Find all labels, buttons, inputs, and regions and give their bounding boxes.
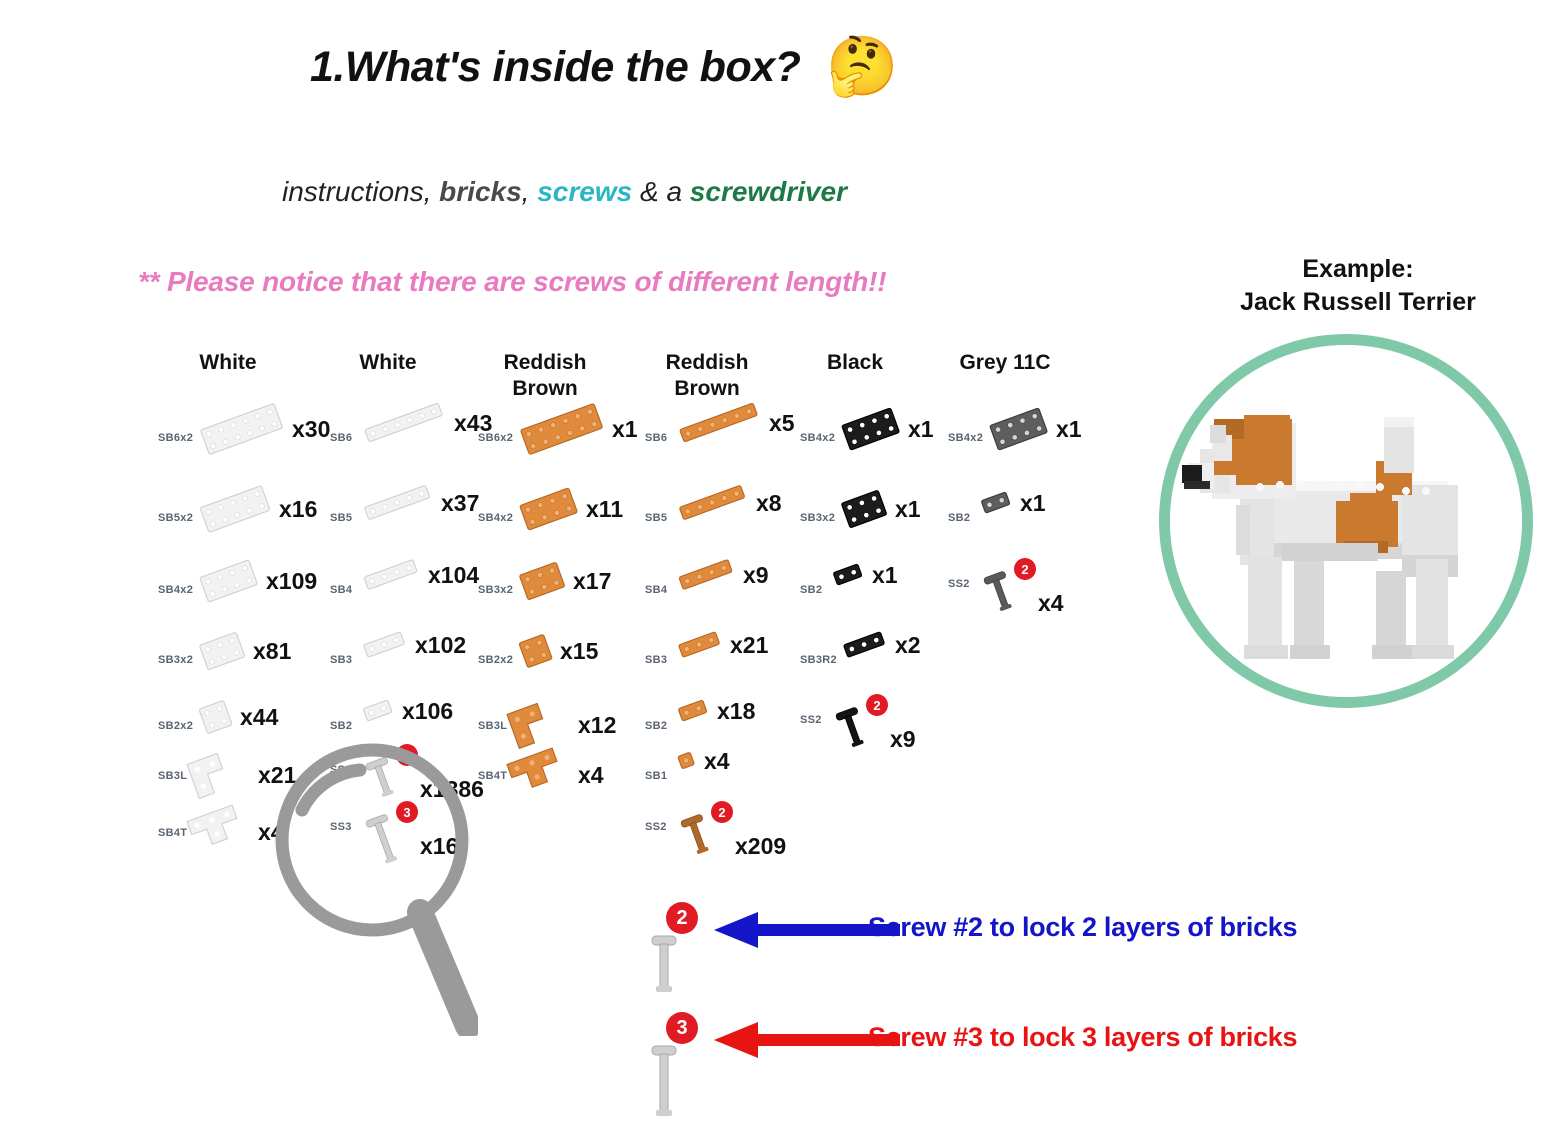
part-code: SB6 <box>645 432 667 444</box>
part-code: SS2 <box>645 821 667 833</box>
part-icon-plate-2x1 <box>832 562 876 598</box>
part-code: SB2x2 <box>478 654 513 666</box>
part-icon-plate-3x2 <box>200 632 257 681</box>
part-quantity: x16 <box>420 833 458 860</box>
part-code: SB3x2 <box>800 512 835 524</box>
part-icon-plate-4x2 <box>990 410 1060 459</box>
part-code: SB4x2 <box>800 432 835 444</box>
part-quantity: x11 <box>586 496 623 523</box>
part-quantity: x4 <box>1038 590 1064 617</box>
example-dog-circle <box>1159 334 1533 708</box>
part-quantity: x1 <box>872 562 898 589</box>
part-icon-plate-3x2 <box>842 490 899 539</box>
part-quantity: x4 <box>258 819 284 846</box>
column-header-4: Black <box>775 350 935 376</box>
part-icon-plate-5x1 <box>362 490 445 526</box>
part-code: SS2 <box>330 764 352 776</box>
part-code: SS3 <box>330 821 352 833</box>
legend-label-3: Screw #3 to lock 3 layers of bricks <box>868 1022 1297 1053</box>
part-code: SS2 <box>800 714 822 726</box>
part-code: SB4T <box>158 827 187 839</box>
part-quantity: x1 <box>908 416 934 443</box>
part-quantity: x1386 <box>420 776 484 803</box>
column-header-2: ReddishBrown <box>465 350 625 403</box>
part-quantity: x18 <box>717 698 755 725</box>
part-quantity: x37 <box>441 490 479 517</box>
part-quantity: x44 <box>240 704 278 731</box>
part-quantity: x4 <box>704 748 730 775</box>
part-icon-plate-6x1 <box>362 410 458 446</box>
part-code: SS2 <box>948 578 970 590</box>
part-code: SB4 <box>645 584 667 596</box>
part-icon-plate-3x1 <box>362 632 419 668</box>
part-code: SB5 <box>645 512 667 524</box>
part-quantity: x9 <box>890 726 916 753</box>
part-code: SB4 <box>330 584 352 596</box>
part-icon-plate-5x1 <box>677 490 760 526</box>
part-icon-plate-2x2 <box>520 632 564 681</box>
part-quantity: x9 <box>743 562 769 589</box>
example-breed: Jack Russell Terrier <box>1198 286 1518 319</box>
part-icon-plate-T <box>510 748 582 813</box>
part-code: SB4x2 <box>948 432 983 444</box>
screw-badge-3: 3 <box>396 801 418 823</box>
part-quantity: x209 <box>735 833 786 860</box>
part-code: SB2 <box>800 584 822 596</box>
part-icon-plate-3x1 <box>677 632 734 668</box>
part-quantity: x5 <box>769 410 795 437</box>
part-code: SB5 <box>330 512 352 524</box>
screw-legend: 2 Screw #2 to lock 2 layers of bricks 3 … <box>640 890 1440 1130</box>
part-quantity: x1 <box>1056 416 1082 443</box>
part-quantity: x17 <box>573 568 611 595</box>
parts-inventory: WhiteSB6x2x30SB5x2x16SB4x2x109SB3x2x81SB… <box>0 0 1110 900</box>
part-code: SB3 <box>645 654 667 666</box>
part-quantity: x2 <box>895 632 921 659</box>
part-icon-plate-4x1 <box>677 562 747 598</box>
part-code: SB2 <box>330 720 352 732</box>
part-code: SB2 <box>645 720 667 732</box>
part-code: SB4x2 <box>478 512 513 524</box>
example-caption: Example: Jack Russell Terrier <box>1198 253 1518 318</box>
part-icon-plate-3x1 <box>842 632 899 668</box>
legend-label-2: Screw #2 to lock 2 layers of bricks <box>868 912 1297 943</box>
part-icon-plate-2x2 <box>200 698 244 747</box>
part-icon-plate-4x2 <box>842 410 912 459</box>
part-code: SB3L <box>158 770 187 782</box>
part-icon-plate-6x2 <box>520 410 616 459</box>
screw-badge-2: 2 <box>1014 558 1036 580</box>
part-quantity: x30 <box>292 416 330 443</box>
screw-badge-3: 3 <box>666 1012 698 1044</box>
screw-badge-2: 2 <box>866 694 888 716</box>
part-quantity: x21 <box>730 632 768 659</box>
part-code: SB3R2 <box>800 654 837 666</box>
part-code: SB6x2 <box>478 432 513 444</box>
part-code: SB3x2 <box>478 584 513 596</box>
part-quantity: x8 <box>756 490 782 517</box>
part-quantity: x1 <box>612 416 638 443</box>
screw-badge-2: 2 <box>666 902 698 934</box>
part-code: SB4x2 <box>158 584 193 596</box>
part-icon-plate-4x2 <box>520 490 590 539</box>
part-code: SB4T <box>478 770 507 782</box>
screw-badge-2: 2 <box>711 801 733 823</box>
part-quantity: x16 <box>279 496 317 523</box>
jack-russell-terrier-brick-model <box>1170 345 1522 697</box>
part-icon-plate-2x1 <box>677 698 721 734</box>
part-code: SB1 <box>645 770 667 782</box>
column-header-0: White <box>148 350 308 376</box>
part-quantity: x1 <box>1020 490 1046 517</box>
part-quantity: x106 <box>402 698 453 725</box>
part-quantity: x104 <box>428 562 479 589</box>
part-quantity: x15 <box>560 638 598 665</box>
part-quantity: x4 <box>578 762 604 789</box>
column-header-5: Grey 11C <box>925 350 1085 376</box>
part-icon-plate-6x1 <box>677 410 773 446</box>
example-label: Example: <box>1198 253 1518 286</box>
part-quantity: x81 <box>253 638 291 665</box>
part-code: SB3L <box>478 720 507 732</box>
part-icon-plate-4x1 <box>362 562 432 598</box>
part-code: SB6x2 <box>158 432 193 444</box>
part-icon-plate-2x1 <box>980 490 1024 526</box>
part-quantity: x102 <box>415 632 466 659</box>
part-code: SB2 <box>948 512 970 524</box>
part-code: SB2x2 <box>158 720 193 732</box>
part-quantity: x12 <box>578 712 616 739</box>
part-icon-plate-6x2 <box>200 410 296 459</box>
part-icon-plate-3x2 <box>520 562 577 611</box>
part-icon-plate-5x2 <box>200 490 283 539</box>
part-quantity: x1 <box>895 496 921 523</box>
part-icon-plate-T <box>190 805 262 870</box>
column-header-1: White <box>308 350 468 376</box>
part-icon-plate-2x1 <box>362 698 406 734</box>
part-code: SB6 <box>330 432 352 444</box>
part-quantity: x21 <box>258 762 296 789</box>
part-code: SB3 <box>330 654 352 666</box>
part-icon-plate-4x2 <box>200 562 270 611</box>
part-code: SB5x2 <box>158 512 193 524</box>
part-code: SB3x2 <box>158 654 193 666</box>
part-quantity: x109 <box>266 568 317 595</box>
screw-badge-2: 2 <box>396 744 418 766</box>
